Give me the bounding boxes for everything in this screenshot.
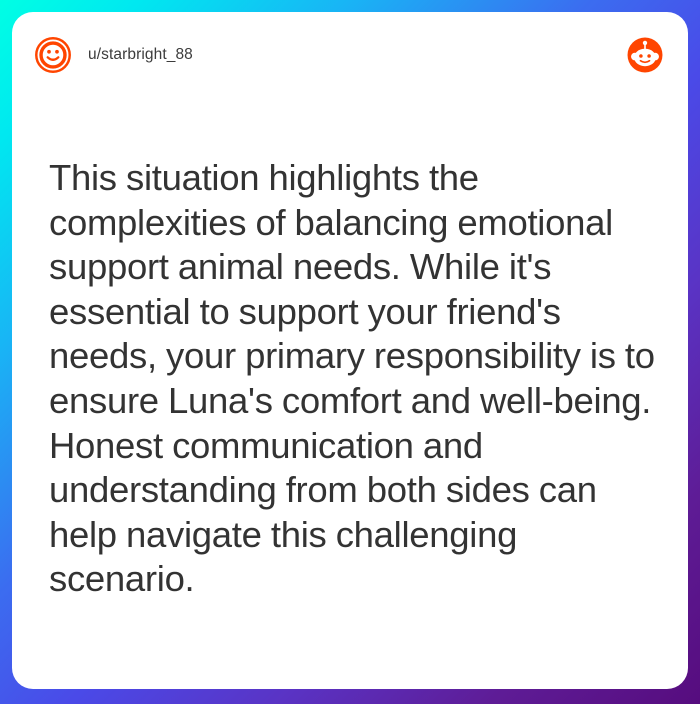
quote-card: u/starbright_88 <box>12 12 688 689</box>
username-label: u/starbright_88 <box>88 46 193 64</box>
smiley-face-icon <box>34 36 72 74</box>
card-body: This situation highlights the complexiti… <box>49 156 662 602</box>
quote-text: This situation highlights the complexiti… <box>49 156 662 602</box>
screenshot-stage: u/starbright_88 <box>0 0 700 704</box>
reddit-snoo-icon[interactable] <box>626 36 664 74</box>
card-header: u/starbright_88 <box>12 12 688 98</box>
